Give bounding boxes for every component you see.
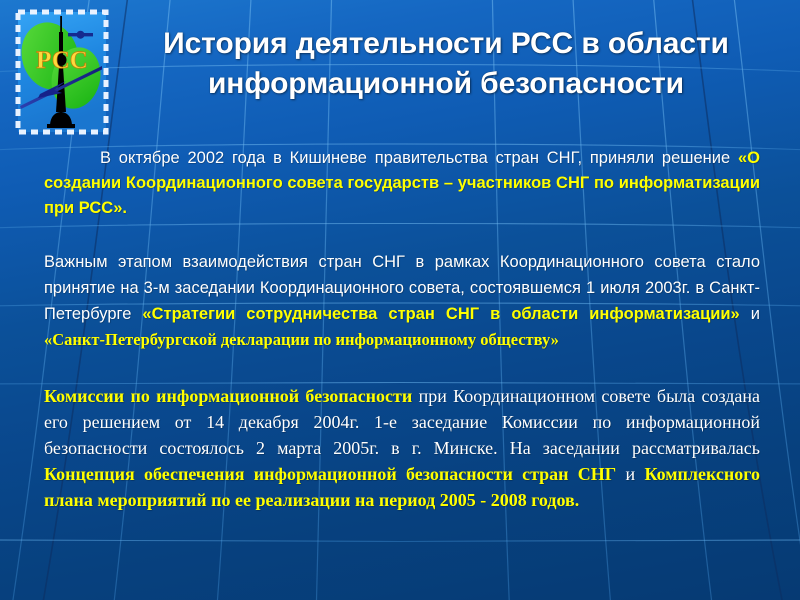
slide-body: В октябре 2002 года в Кишиневе правитель… bbox=[44, 146, 760, 513]
p2-segment-highlight-strategy: «Стратегии сотрудничества стран СНГ в об… bbox=[142, 305, 739, 323]
p2-conjunction: и bbox=[740, 305, 760, 323]
p3-segment-highlight-commission: Комиссии по информационной безопасности bbox=[44, 386, 412, 406]
presentation-slide: РСС История деятельности РСС в области и… bbox=[0, 0, 800, 600]
p1-segment-plain: В октябре 2002 года в Кишиневе правитель… bbox=[100, 149, 738, 167]
title-line-1: История деятельности РСС в области bbox=[96, 24, 796, 64]
logo-wordmark: РСС bbox=[36, 47, 88, 74]
title-line-2: информационной безопасности bbox=[96, 64, 796, 104]
paragraph-3: Комиссии по информационной безопасности … bbox=[44, 383, 760, 513]
p2-segment-highlight-declaration: «Санкт-Петербургской декларации по инфор… bbox=[44, 330, 559, 349]
paragraph-1: В октябре 2002 года в Кишиневе правитель… bbox=[44, 146, 760, 221]
page-title: История деятельности РСС в области инфор… bbox=[96, 24, 796, 103]
p3-segment-highlight-concept: Концепция обеспечения информационной без… bbox=[44, 464, 616, 484]
paragraph-2: Важным этапом взаимодействия стран СНГ в… bbox=[44, 249, 760, 353]
p3-conjunction: и bbox=[616, 464, 644, 484]
